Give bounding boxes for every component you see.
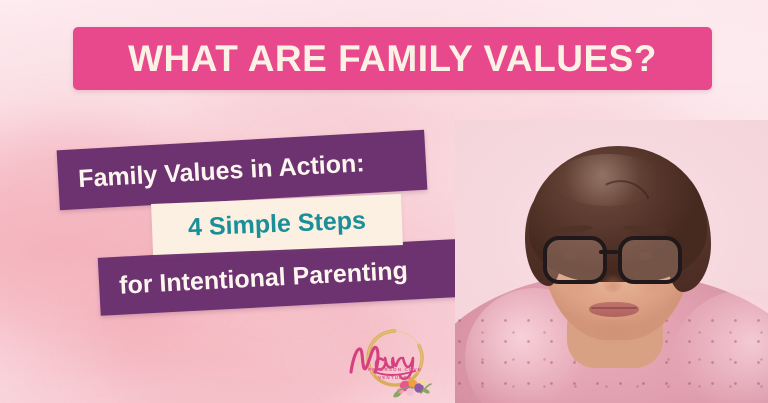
subtitle-band-2: 4 Simple Steps: [151, 194, 403, 255]
subtitle-line-1: Family Values in Action:: [77, 149, 365, 194]
portrait-glasses-lens: [543, 236, 607, 284]
subtitle-line-2: 4 Simple Steps: [188, 206, 367, 242]
logo-tagline-line-1: PETERSON COVE: [356, 366, 434, 374]
logo-artwork: [333, 322, 453, 400]
portrait-lip-line: [591, 307, 637, 309]
brand-logo: PETERSON COVE VENTURES: [333, 322, 453, 400]
logo-tagline-line-2: VENTURES: [356, 374, 434, 382]
subtitle-line-3: for Intentional Parenting: [118, 256, 408, 300]
portrait-chin: [583, 320, 645, 344]
headline-title: WHAT ARE FAMILY VALUES?: [128, 40, 657, 77]
portrait-photo: [455, 120, 768, 403]
portrait-mouth: [589, 302, 639, 317]
logo-tagline: PETERSON COVE VENTURES: [356, 366, 434, 382]
headline-banner: WHAT ARE FAMILY VALUES?: [73, 27, 712, 90]
portrait-glasses-bridge: [599, 250, 618, 254]
graphic-canvas: WHAT ARE FAMILY VALUES? Family Values in…: [0, 0, 768, 403]
portrait-glasses-lens: [618, 236, 682, 284]
portrait-nose: [602, 272, 624, 292]
